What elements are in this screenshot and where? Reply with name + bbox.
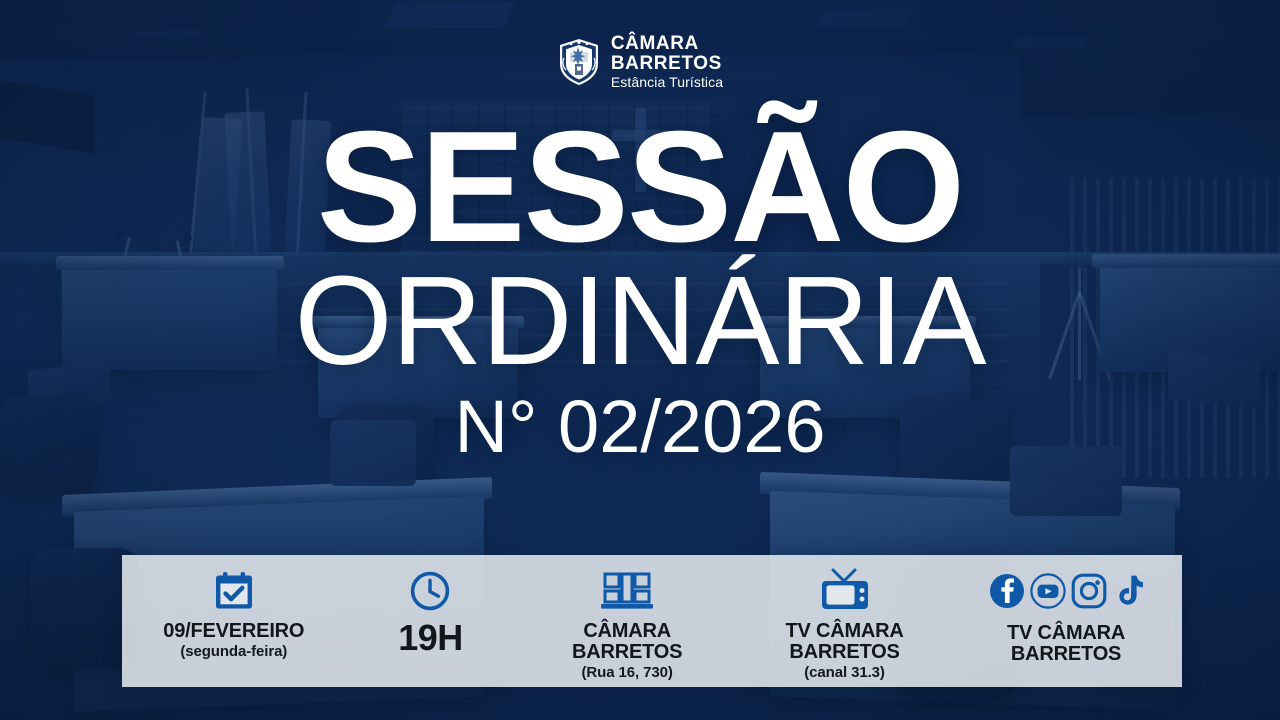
headline-ordinaria: ORDINÁRIA [0,258,1280,384]
brand-line-estancia: Estância Turística [611,75,723,89]
brand-line-camara: CÂMARA [611,34,723,53]
venue-name-line2: BARRETOS [572,642,682,663]
info-cell-time: 19H [346,555,516,687]
date-weekday: (segunda-feira) [180,643,287,660]
info-cell-date: 09/FEVEREIRO (segunda-feira) [122,555,346,687]
tiktok-icon[interactable] [1112,573,1144,609]
clock-icon [409,567,451,615]
brand-logo: CÂMARA BARRETOS Estância Turística [0,34,1280,89]
venue-address: (Rua 16, 730) [582,664,673,681]
venue-name-line1: CÂMARA [583,621,671,642]
date-value: 09/FEVEREIRO [163,621,304,642]
time-value: 19H [398,619,463,657]
tv-channel: (canal 31.3) [804,664,885,681]
barretos-coat-of-arms-icon [557,38,601,86]
info-cell-social: TV CÂMARA BARRETOS [950,555,1182,687]
headline-sessao: SESSÃO [0,112,1280,264]
youtube-icon[interactable] [1030,573,1066,609]
social-icon-row [989,567,1144,615]
headline-block: SESSÃO ORDINÁRIA N° 02/2026 [0,112,1280,465]
social-name-line2: BARRETOS [1011,644,1121,665]
event-info-bar: 09/FEVEREIRO (segunda-feira) 19H [122,555,1182,687]
brand-line-barretos: BARRETOS [611,54,723,73]
calendar-check-icon [212,567,256,615]
tv-name-line1: TV CÂMARA [785,621,903,642]
info-cell-venue: CÂMARA BARRETOS (Rua 16, 730) [515,555,739,687]
social-name-line1: TV CÂMARA [1007,623,1125,644]
brand-text-block: CÂMARA BARRETOS Estância Turística [611,34,723,89]
television-icon [819,567,871,615]
tv-name-line2: BARRETOS [789,642,899,663]
info-cell-tv: TV CÂMARA BARRETOS (canal 31.3) [739,555,950,687]
building-icon [601,567,653,615]
facebook-icon[interactable] [989,573,1025,609]
instagram-icon[interactable] [1071,573,1107,609]
session-announcement-banner: CÂMARA BARRETOS Estância Turística SESSÃ… [0,0,1280,720]
headline-session-number: N° 02/2026 [0,388,1280,466]
